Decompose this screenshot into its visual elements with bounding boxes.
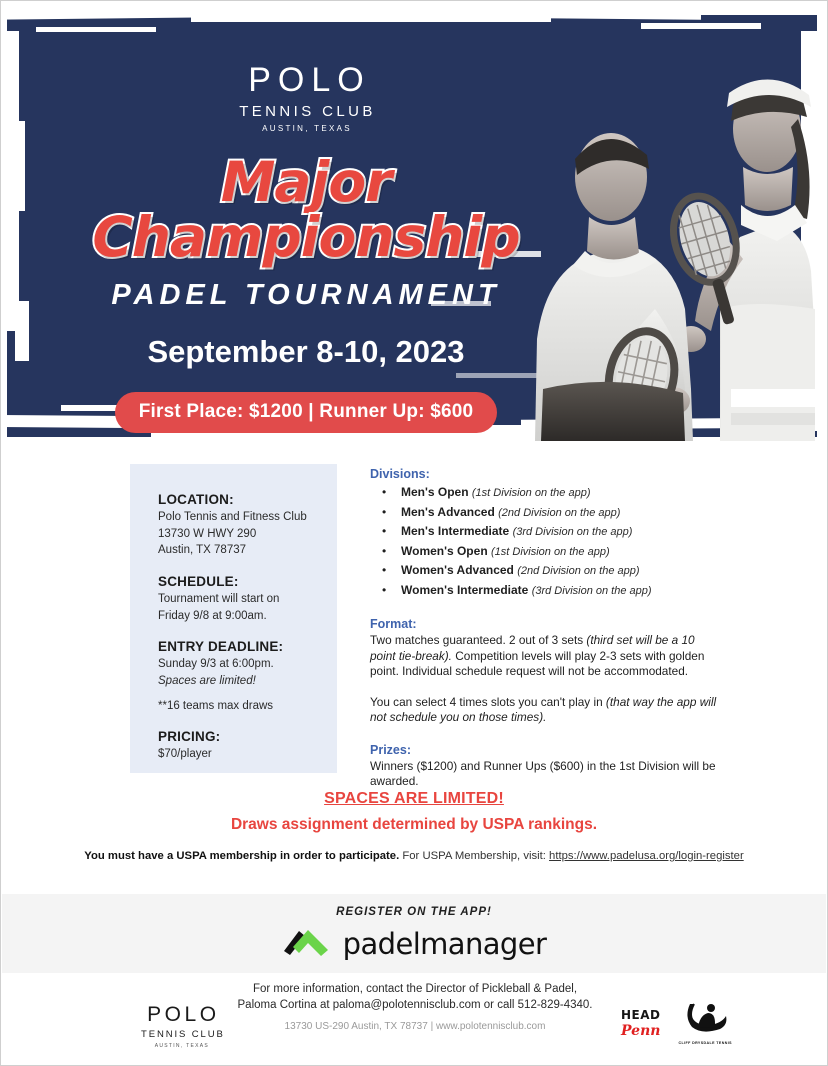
division-name: Men's Open [401,485,469,499]
spaces-are-limited-headline: SPACES ARE LIMITED! [1,790,827,808]
hero-banner: POLO TENNIS CLUB AUSTIN, TEXAS Major Cha… [1,1,827,453]
cliff-drysdale-tennis-logo: CLIFF DRYSDALE TENNIS [679,1001,732,1045]
location-line: Austin, TX 78737 [158,542,337,559]
register-on-app-bar: REGISTER ON THE APP! padelmanager [2,894,826,973]
cliff-drysdale-caption: CLIFF DRYSDALE TENNIS [679,1041,732,1045]
draws-assignment-line: Draws assignment determined by USPA rank… [1,816,827,834]
division-note: (1st Division on the app) [491,546,610,558]
list-item: Women's Intermediate (3rd Division on th… [370,581,720,601]
divisions-list: Men's Open (1st Division on the app) Men… [370,483,720,600]
uspa-bold-text: You must have a USPA membership in order… [84,850,399,862]
footer-logo-austin-texas-text: AUSTIN, TEXAS [139,1044,225,1049]
padelmanager-logo[interactable]: padelmanager [2,926,826,961]
register-kicker-text: REGISTER ON THE APP! [2,906,826,918]
division-note: (1st Division on the app) [472,487,591,499]
hero-content: POLO TENNIS CLUB AUSTIN, TEXAS Major Cha… [1,1,611,453]
spaces-limited-note: Spaces are limited! [158,673,337,690]
head-wordmark: HEAD [621,1008,661,1022]
division-name: Men's Advanced [401,505,495,519]
penn-wordmark: Penn [621,1023,661,1039]
location-line: 13730 W HWY 290 [158,526,337,543]
max-draws-note: **16 teams max draws [158,698,337,715]
location-line: Polo Tennis and Fitness Club [158,509,337,526]
format-text-a: Two matches guaranteed. 2 out of 3 sets [370,633,586,647]
list-item: Women's Open (1st Division on the app) [370,542,720,562]
logo-austin-texas-text: AUSTIN, TEXAS [1,125,611,133]
event-title: Major Championship [1,155,611,265]
head-penn-logo: HEAD Penn [621,1008,661,1039]
schedule-line: Tournament will start on [158,591,337,608]
entry-deadline-line: Sunday 9/3 at 6:00pm. [158,656,337,673]
flyer-page: POLO TENNIS CLUB AUSTIN, TEXAS Major Cha… [0,0,828,1066]
format-paragraph-1: Two matches guaranteed. 2 out of 3 sets … [370,633,720,680]
divisions-heading: Divisions: [370,467,720,481]
timeslot-text-a: You can select 4 times slots you can't p… [370,695,606,709]
prizes-text: Winners ($1200) and Runner Ups ($600) in… [370,759,720,790]
tennis-player-swoosh-icon [682,1022,728,1039]
polo-tennis-club-logo: POLO TENNIS CLUB AUSTIN, TEXAS [1,63,611,133]
list-item: Men's Open (1st Division on the app) [370,483,720,503]
division-note: (2nd Division on the app) [498,507,620,519]
list-item: Men's Intermediate (3rd Division on the … [370,522,720,542]
event-dates: September 8-10, 2023 [1,334,611,370]
details-column: Divisions: Men's Open (1st Division on t… [370,467,720,790]
division-note: (3rd Division on the app) [513,526,633,538]
info-box: LOCATION: Polo Tennis and Fitness Club 1… [130,464,337,773]
pricing-heading: PRICING: [158,729,337,744]
event-subtitle: PADEL TOURNAMENT [1,279,611,312]
division-note: (3rd Division on the app) [532,585,652,597]
schedule-heading: SCHEDULE: [158,574,337,589]
divisions-only-note: 1ST DIVISIONS ONLY [1,449,611,453]
sponsor-logos: HEAD Penn CLIFF DRYSDALE TENNIS [621,1001,732,1045]
footer-contact-line-1: For more information, contact the Direct… [1,981,828,997]
schedule-line: Friday 9/8 at 9:00am. [158,608,337,625]
prize-pill-badge: First Place: $1200 | Runner Up: $600 [115,392,498,433]
format-paragraph-2: You can select 4 times slots you can't p… [370,695,720,726]
location-heading: LOCATION: [158,492,337,507]
list-item: Men's Advanced (2nd Division on the app) [370,503,720,523]
pricing-line: $70/player [158,746,337,763]
uspa-membership-link[interactable]: https://www.padelusa.org/login-register [549,850,744,862]
padelmanager-chevron-icon [282,926,334,961]
uspa-membership-line: You must have a USPA membership in order… [1,850,827,862]
division-note: (2nd Division on the app) [517,565,639,577]
division-name: Women's Intermediate [401,583,528,597]
entry-deadline-heading: ENTRY DEADLINE: [158,639,337,654]
uspa-rest-text: For USPA Membership, visit: [399,850,549,862]
list-item: Women's Advanced (2nd Division on the ap… [370,561,720,581]
format-heading: Format: [370,617,720,631]
logo-polo-text: POLO [1,63,611,97]
division-name: Women's Advanced [401,563,514,577]
padelmanager-wordmark: padelmanager [343,927,547,961]
division-name: Men's Intermediate [401,524,509,538]
prizes-heading: Prizes: [370,743,720,757]
notice-block: SPACES ARE LIMITED! Draws assignment det… [1,790,827,862]
logo-tennis-club-text: TENNIS CLUB [1,104,611,119]
division-name: Women's Open [401,544,488,558]
